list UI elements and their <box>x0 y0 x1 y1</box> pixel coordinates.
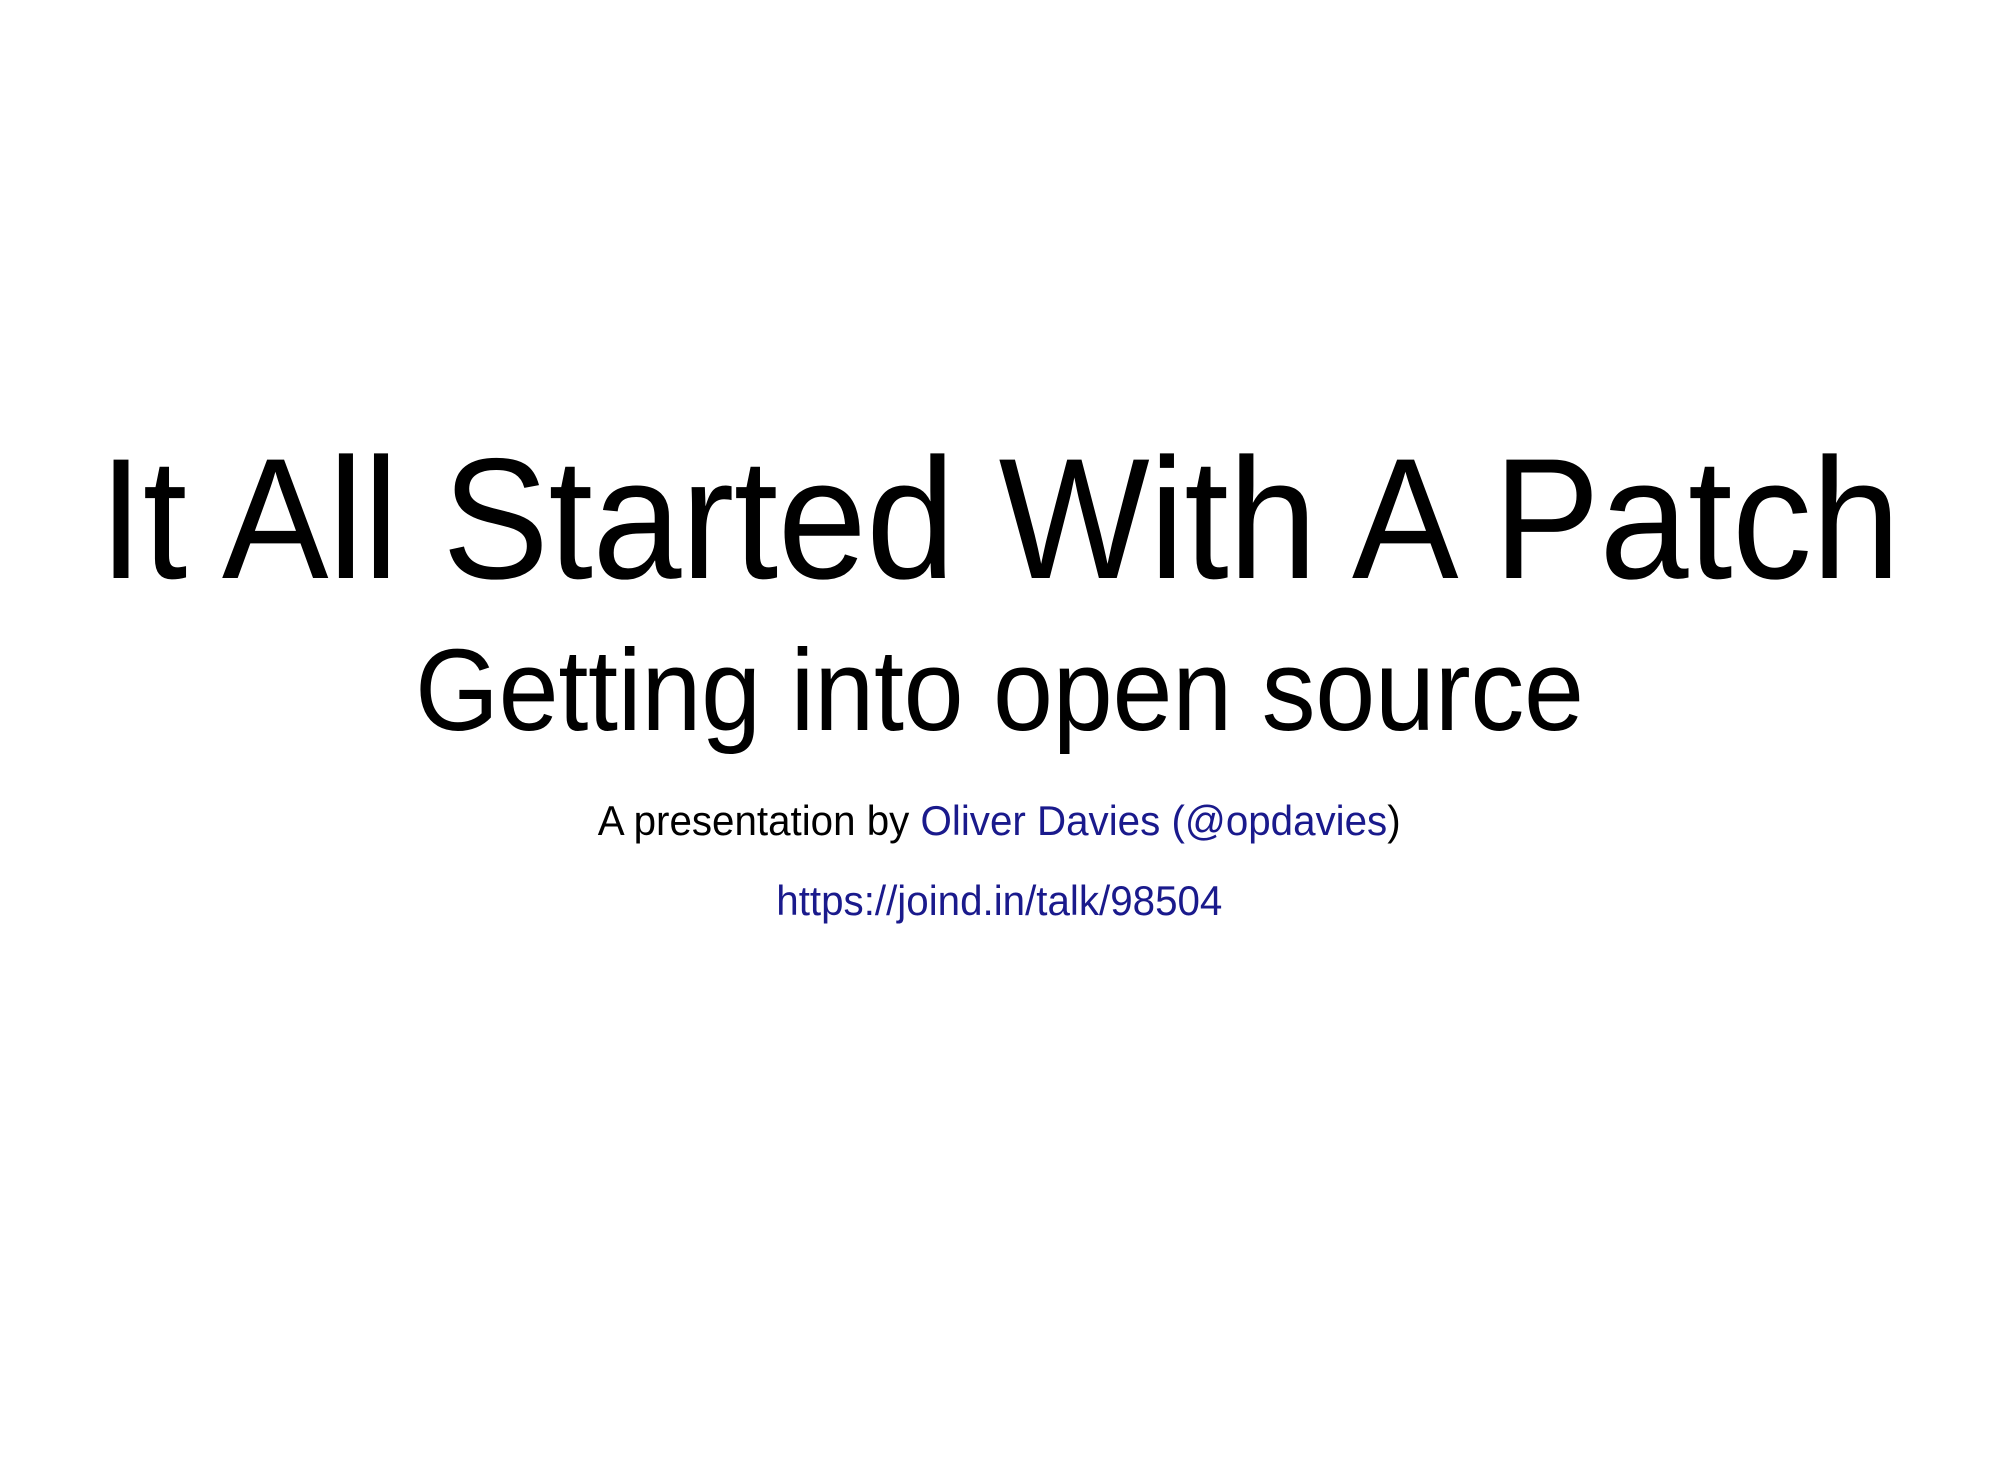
slide-title: It All Started With A Patch <box>99 432 1900 607</box>
author-name-link[interactable]: Oliver Davies <box>921 797 1161 844</box>
author-handle-link[interactable]: (@opdavies <box>1161 797 1388 844</box>
slide-content-block: It All Started With A Patch Getting into… <box>0 432 1999 927</box>
slide-subtitle: Getting into open source <box>415 631 1584 749</box>
byline-prefix-text: A presentation by <box>598 797 921 844</box>
presenter-byline: A presentation by Oliver Davies (@opdavi… <box>598 796 1401 846</box>
presentation-title-slide: It All Started With A Patch Getting into… <box>0 0 1999 1459</box>
byline-closing-paren: ) <box>1388 797 1401 844</box>
talk-url-link[interactable]: https://joind.in/talk/98504 <box>776 876 1222 926</box>
